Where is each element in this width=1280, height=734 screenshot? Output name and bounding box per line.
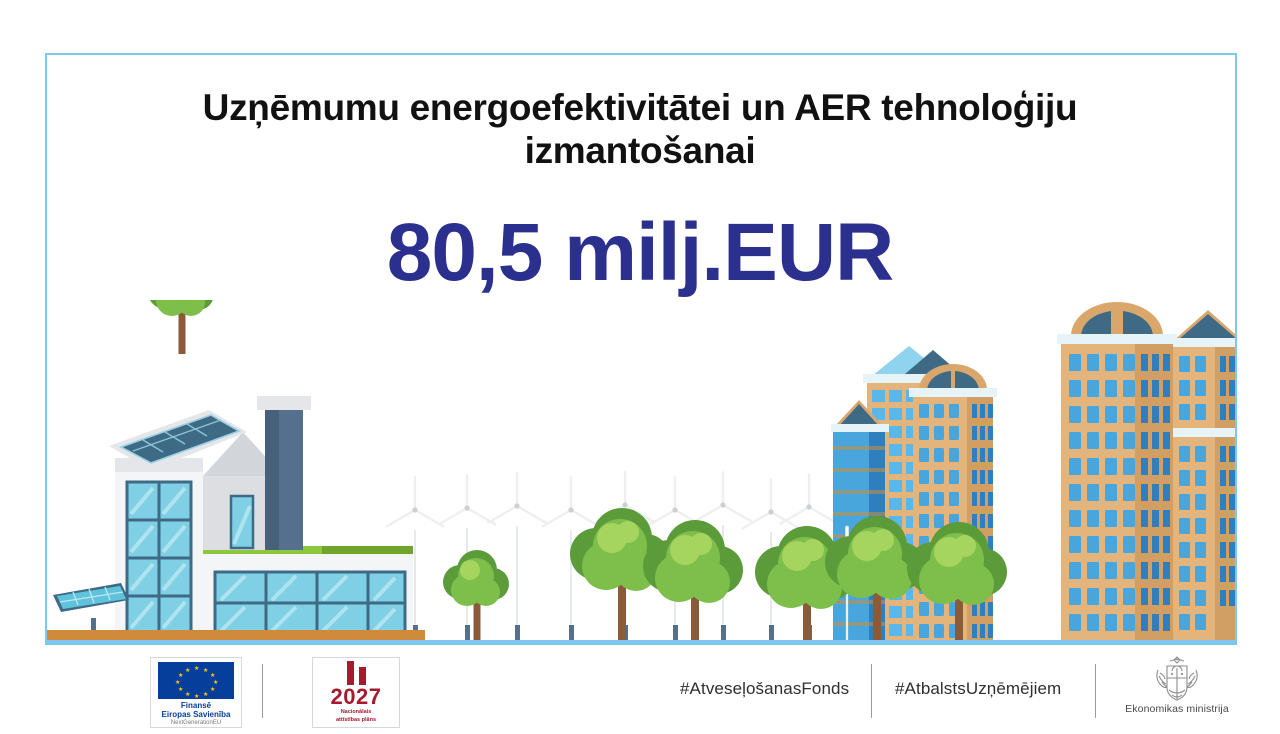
tree-row [148, 300, 214, 354]
slide: Uzņēmumu energoefektivitātei un AER tehn… [0, 0, 1280, 734]
footer: ★ ★ ★ ★ ★ ★ ★ ★ ★ ★ ★ ★ Finansē Eiropas … [0, 648, 1280, 734]
national-development-plan-logo: 2027 Nacionālais attīstības plāns [312, 657, 400, 728]
eu-logo-line2: Eiropas Savienība [162, 710, 231, 719]
skyscraper-6 [1169, 310, 1235, 644]
page-title: Uzņēmumu energoefektivitātei un AER tehn… [90, 86, 1190, 173]
hashtag-atveselosanas-fonds: #AtveseļošanasFonds [680, 679, 849, 699]
footer-divider-2 [871, 664, 872, 718]
eu-logo-line1: Finansē [181, 701, 211, 710]
footer-divider-3 [1095, 664, 1096, 718]
baseline [47, 640, 1235, 644]
skyscraper-5 [1057, 302, 1177, 644]
eu-flag-icon: ★ ★ ★ ★ ★ ★ ★ ★ ★ ★ ★ ★ [158, 662, 234, 699]
hashtag-atbalsts-uznemejiem: #AtbalstsUzņēmējiem [895, 679, 1061, 699]
footer-divider-1 [262, 664, 263, 718]
latvia-coat-of-arms-icon [1148, 654, 1206, 702]
eu-funding-logo: ★ ★ ★ ★ ★ ★ ★ ★ ★ ★ ★ ★ Finansē Eiropas … [150, 657, 242, 728]
ekonomikas-ministrija-logo: Ekonomikas ministrija [1117, 654, 1237, 715]
amount-value: 80,5 milj.EUR [90, 212, 1190, 294]
eu-logo-line3: NextGenerationEU [171, 719, 221, 727]
nap-bars-icon [347, 661, 366, 685]
nap-year: 2027 [331, 686, 382, 708]
green-city-illustration [47, 300, 1235, 644]
ministry-label: Ekonomikas ministrija [1117, 703, 1237, 715]
nap-subtitle-1: Nacionālais [341, 709, 372, 716]
nap-subtitle-2: attīstības plāns [336, 717, 376, 724]
energy-efficient-house [109, 396, 413, 644]
